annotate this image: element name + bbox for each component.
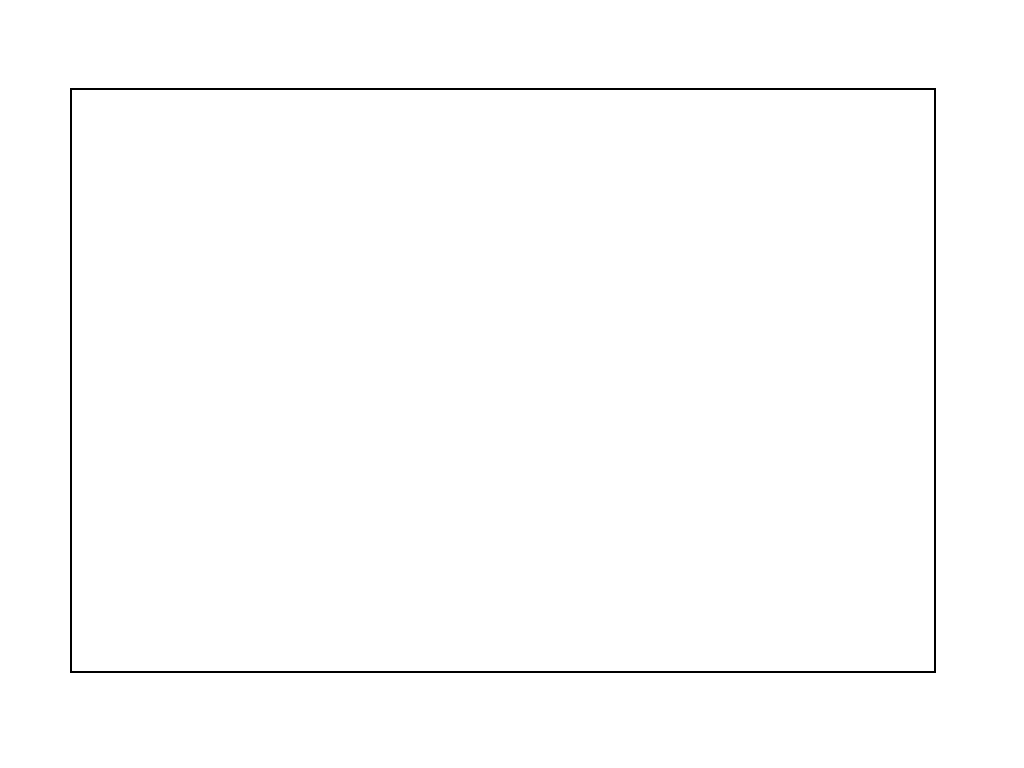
plot-area: [70, 88, 936, 673]
chart-page: [0, 0, 1024, 768]
y-axis-labels: [0, 88, 70, 673]
heatmap-cells: [72, 90, 934, 671]
